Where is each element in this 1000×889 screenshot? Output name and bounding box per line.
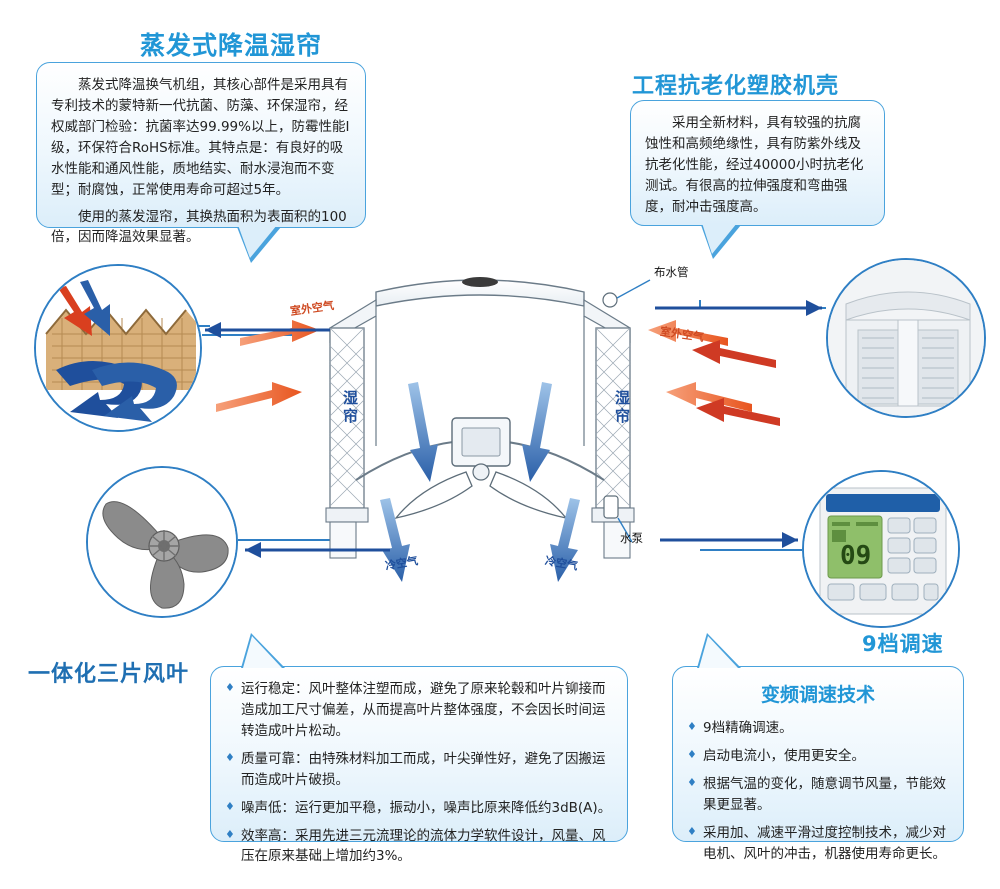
list-item: 效率高：采用先进三元流理论的流体力学软件设计，风量、风压在原来基础上增加约3%。 (225, 826, 613, 868)
callout-fan-blade: 运行稳定：风叶整体注塑而成，避免了原来轮毂和叶片铆接而造成加工尺寸偏差，从而提高… (210, 666, 628, 842)
list-item: 启动电流小，使用更安全。 (687, 746, 949, 767)
callout-plastic-shell: 采用全新材料，具有较强的抗腐蚀性和高频绝缘性，具有防紫外线及抗老化性能，经过40… (630, 100, 885, 226)
label-water-pipe: 布水管 (654, 264, 689, 280)
vfd-feature-list: 9档精确调速。 启动电流小，使用更安全。 根据气温的变化，随意调节风量，节能效果… (687, 718, 949, 865)
fan-blade-feature-list: 运行稳定：风叶整体注塑而成，避免了原来轮毂和叶片铆接而造成加工尺寸偏差，从而提高… (225, 679, 613, 867)
list-item: 质量可靠：由特殊材料加工而成，叶尖弹性好，避免了因搬运而造成叶片破损。 (225, 749, 613, 791)
svg-text:09: 09 (840, 541, 871, 571)
heading-vfd: 变频调速技术 (687, 681, 949, 710)
callout-vfd: 变频调速技术 9档精确调速。 启动电流小，使用更安全。 根据气温的变化，随意调节… (672, 666, 964, 842)
label-water-pump: 水泵 (620, 530, 643, 546)
photo-fan-blade (86, 466, 238, 618)
heading-fan-blade: 一体化三片风叶 (28, 656, 189, 688)
label-wet-curtain-left: 湿帘 (340, 390, 361, 426)
callout-cooling-pad-paragraph-1: 蒸发式降温换气机组，其核心部件是采用具有专利技术的蒙特新一代抗菌、防藻、环保湿帘… (51, 75, 351, 201)
label-wet-curtain-right: 湿帘 (612, 390, 633, 426)
photo-cooling-pad (34, 264, 202, 432)
list-item: 噪声低：运行更加平稳，振动小，噪声比原来降低约3dB(A)。 (225, 798, 613, 819)
callout-cooling-pad: 蒸发式降温换气机组，其核心部件是采用具有专利技术的蒙特新一代抗菌、防藻、环保湿帘… (36, 62, 366, 228)
list-item: 根据气温的变化，随意调节风量，节能效果更显著。 (687, 774, 949, 816)
heading-plastic-shell: 工程抗老化塑胶机壳 (632, 68, 839, 100)
list-item: 采用加、减速平滑过度控制技术，减少对电机、风叶的冲击，机器使用寿命更长。 (687, 823, 949, 865)
photo-plastic-shell (826, 258, 986, 418)
list-item: 9档精确调速。 (687, 718, 949, 739)
list-item: 运行稳定：风叶整体注塑而成，避免了原来轮毂和叶片铆接而造成加工尺寸偏差，从而提高… (225, 679, 613, 742)
callout-plastic-shell-paragraph-1: 采用全新材料，具有较强的抗腐蚀性和高频绝缘性，具有防紫外线及抗老化性能，经过40… (645, 113, 870, 218)
photo-control-panel: 09 (802, 470, 960, 628)
heading-cooling-pad: 蒸发式降温湿帘 (140, 26, 322, 62)
